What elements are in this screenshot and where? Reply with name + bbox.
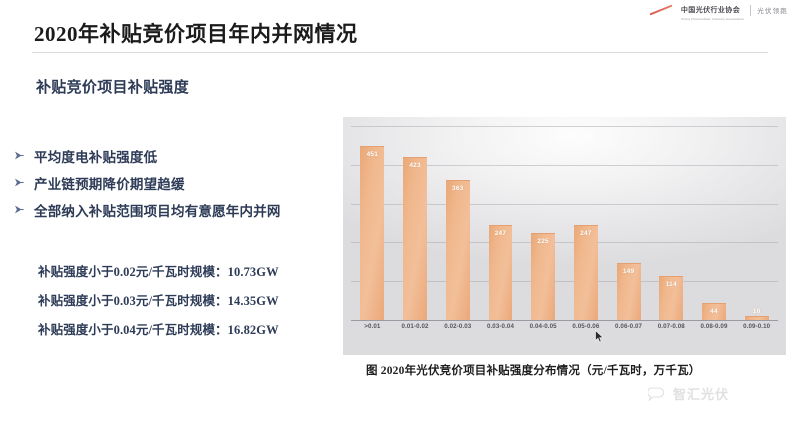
list-item-label: 平均度电补贴强度低: [34, 146, 157, 166]
chart-bar[interactable]: 363: [446, 180, 470, 320]
chart-bars: 4514233632472252471491144410: [351, 127, 778, 320]
chart-bar-slot: 451: [351, 127, 394, 320]
chart-bar[interactable]: 225: [531, 233, 555, 320]
chart-x-tick-label: 0.07-0.08: [650, 323, 693, 330]
chart-x-tick-label: 0.01-0.02: [394, 323, 437, 330]
speech-bubble-icon: [648, 387, 668, 401]
brand-secondary: 光伏领跑: [757, 5, 788, 15]
chart-x-tick-label: 0.08-0.09: [693, 323, 736, 330]
chevron-right-icon: [14, 177, 25, 188]
swoosh-icon: [649, 5, 675, 15]
chart-bar[interactable]: 247: [574, 225, 598, 320]
chart-x-tick-label: 0.09-0.10: [735, 323, 778, 330]
list-item: 产业链预期降价期望趋缓: [14, 169, 344, 196]
chart-bar-value-label: 451: [360, 151, 384, 158]
chevron-right-icon: [14, 150, 25, 161]
chart-bar-value-label: 225: [531, 238, 555, 245]
chart-bar-value-label: 247: [489, 230, 513, 237]
chart-caption: 图 2020年光伏竞价项目补贴强度分布情况（元/千瓦时，万千瓦）: [366, 362, 786, 378]
chart-x-tick-labels: >0.010.01-0.020.02-0.030.03-0.040.04-0.0…: [351, 323, 778, 343]
stat-line: 补贴强度小于0.03元/千瓦时规模：14.35GW: [38, 287, 348, 316]
chart-bar-slot: 363: [436, 127, 479, 320]
brand-org-cn: 中国光伏行业协会: [681, 7, 740, 14]
chart-bar-slot: 247: [565, 127, 608, 320]
chart-bar[interactable]: 44: [702, 303, 726, 320]
chart-bar-value-label: 247: [574, 230, 598, 237]
chart-x-tick-label: 0.06-0.07: [607, 323, 650, 330]
stat-line: 补贴强度小于0.04元/千瓦时规模：16.82GW: [38, 316, 348, 345]
chart-bar-value-label: 10: [745, 308, 769, 315]
slide: 中国光伏行业协会 China Photovoltaic Industry Ass…: [0, 0, 800, 421]
brand-org-en: China Photovoltaic Industry Association: [681, 17, 744, 21]
chart-bar-slot: 423: [394, 127, 437, 320]
page-title: 2020年补贴竞价项目年内并网情况: [34, 18, 358, 48]
stats-list: 补贴强度小于0.02元/千瓦时规模：10.73GW 补贴强度小于0.03元/千瓦…: [38, 258, 348, 345]
brand-divider: [750, 5, 751, 16]
list-item: 全部纳入补贴范围项目均有意愿年内并网: [14, 196, 344, 223]
brand-org: 中国光伏行业协会 China Photovoltaic Industry Ass…: [681, 0, 744, 21]
chart-bar-value-label: 114: [659, 281, 683, 288]
stat-line: 补贴强度小于0.02元/千瓦时规模：10.73GW: [38, 258, 348, 287]
chart-x-tick-label: 0.05-0.06: [565, 323, 608, 330]
chart-bar-slot: 149: [607, 127, 650, 320]
chart-bar-slot: 44: [693, 127, 736, 320]
chart-bar-slot: 10: [735, 127, 778, 320]
chart-bar-slot: 225: [522, 127, 565, 320]
bar-chart: 4514233632472252471491144410 >0.010.01-0…: [343, 117, 786, 355]
watermark-label: 智汇光伏: [673, 384, 729, 403]
title-divider: [32, 52, 768, 53]
brand-bar: 中国光伏行业协会 China Photovoltaic Industry Ass…: [570, 0, 800, 20]
list-item-label: 全部纳入补贴范围项目均有意愿年内并网: [34, 200, 281, 220]
list-item-label: 产业链预期降价期望趋缓: [34, 173, 185, 193]
chevron-right-icon: [14, 204, 25, 215]
chart-x-tick-label: 0.04-0.05: [522, 323, 565, 330]
chart-x-axis: [351, 320, 778, 321]
chart-bar-value-label: 149: [617, 268, 641, 275]
chart-bar-value-label: 363: [446, 185, 470, 192]
chart-x-tick-label: 0.03-0.04: [479, 323, 522, 330]
chart-bar-slot: 247: [479, 127, 522, 320]
chart-bar[interactable]: 451: [360, 146, 384, 320]
chart-bar[interactable]: 423: [403, 157, 427, 320]
watermark: 智汇光伏: [648, 384, 729, 403]
bullet-list: 平均度电补贴强度低 产业链预期降价期望趋缓 全部纳入补贴范围项目均有意愿年内并网: [14, 142, 344, 223]
chart-bar[interactable]: 149: [617, 263, 641, 321]
chart-bar[interactable]: 114: [659, 276, 683, 320]
chart-bar[interactable]: 247: [489, 225, 513, 320]
chart-x-tick-label: >0.01: [351, 323, 394, 330]
chart-plot-area: 4514233632472252471491144410: [351, 127, 778, 321]
chart-x-tick-label: 0.02-0.03: [436, 323, 479, 330]
chart-bar-value-label: 44: [702, 308, 726, 315]
chart-bar-slot: 114: [650, 127, 693, 320]
list-item: 平均度电补贴强度低: [14, 142, 344, 169]
section-subtitle: 补贴竞价项目补贴强度: [36, 76, 189, 97]
chart-bar-value-label: 423: [403, 162, 427, 169]
